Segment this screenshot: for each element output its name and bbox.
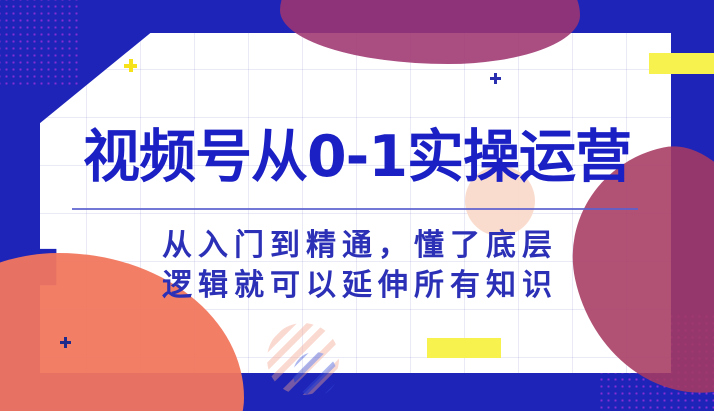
title-divider <box>72 208 638 210</box>
poster-text-block: 视频号从0-1实操运营 从入门到精通，懂了底层 逻辑就可以延伸所有知识 <box>0 0 714 411</box>
poster-subtitle-line-2: 逻辑就可以延伸所有知识 <box>0 268 714 304</box>
poster-title: 视频号从0-1实操运营 <box>0 126 714 188</box>
poster-subtitle-line-1: 从入门到精通，懂了底层 <box>0 228 714 264</box>
poster-canvas: 视频号从0-1实操运营 从入门到精通，懂了底层 逻辑就可以延伸所有知识 <box>0 0 714 411</box>
